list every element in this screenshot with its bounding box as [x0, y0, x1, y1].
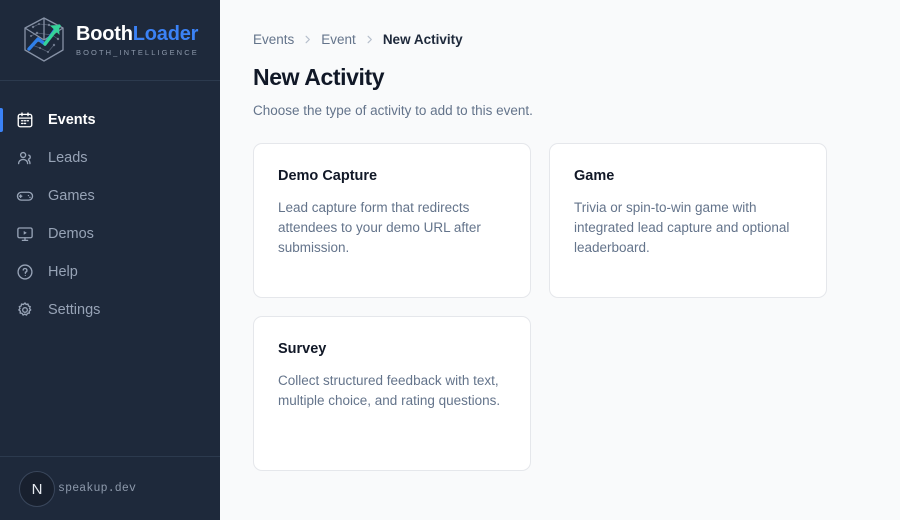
- logo-tagline: BOOTH_INTELLIGENCE: [76, 48, 199, 57]
- activity-card-title: Survey: [278, 341, 506, 358]
- page-subtitle: Choose the type of activity to add to th…: [253, 103, 900, 119]
- activity-type-grid: Demo Capture Lead capture form that redi…: [253, 143, 827, 471]
- sidebar-logo[interactable]: BoothLoader BOOTH_INTELLIGENCE: [0, 0, 220, 81]
- logo-wordmark: BoothLoader BOOTH_INTELLIGENCE: [76, 24, 199, 57]
- sidebar-item-label: Settings: [48, 303, 100, 318]
- activity-card-survey[interactable]: Survey Collect structured feedback with …: [253, 316, 531, 471]
- main-content: Events Event New Activity New Activity C…: [220, 0, 900, 520]
- chevron-right-icon: [364, 34, 375, 45]
- sidebar-user-footer[interactable]: N speakup.dev: [0, 456, 220, 520]
- activity-card-title: Demo Capture: [278, 168, 506, 185]
- sidebar-item-label: Events: [48, 113, 96, 128]
- sidebar-item-label: Demos: [48, 227, 94, 242]
- sidebar-item-label: Games: [48, 189, 95, 204]
- breadcrumb-item-event[interactable]: Event: [321, 32, 356, 47]
- activity-card-title: Game: [574, 168, 802, 185]
- sidebar-item-settings[interactable]: Settings: [0, 291, 220, 329]
- activity-card-game[interactable]: Game Trivia or spin-to-win game with int…: [549, 143, 827, 298]
- gear-icon: [16, 301, 34, 319]
- user-host-label: speakup.dev: [58, 482, 136, 495]
- sidebar-item-demos[interactable]: Demos: [0, 215, 220, 253]
- breadcrumb-item-new-activity: New Activity: [383, 32, 463, 47]
- gamepad-icon: [16, 187, 34, 205]
- monitor-play-icon: [16, 225, 34, 243]
- calendar-icon: [16, 111, 34, 129]
- sidebar: BoothLoader BOOTH_INTELLIGENCE Events: [0, 0, 220, 520]
- logo-word-part2: Loader: [133, 23, 198, 45]
- activity-card-description: Trivia or spin-to-win game with integrat…: [574, 198, 802, 258]
- breadcrumb-item-events[interactable]: Events: [253, 32, 294, 47]
- logo-word-part1: Booth: [76, 23, 133, 45]
- cube-network-arrow-icon: [18, 14, 70, 66]
- users-icon: [16, 149, 34, 167]
- breadcrumb: Events Event New Activity: [253, 30, 900, 48]
- avatar[interactable]: N: [19, 471, 55, 507]
- sidebar-item-label: Leads: [48, 151, 88, 166]
- logo-word: BoothLoader: [76, 24, 199, 45]
- help-circle-icon: [16, 263, 34, 281]
- avatar-initial: N: [32, 481, 43, 498]
- sidebar-item-help[interactable]: Help: [0, 253, 220, 291]
- activity-card-description: Collect structured feedback with text, m…: [278, 371, 506, 411]
- chevron-right-icon: [302, 34, 313, 45]
- sidebar-item-games[interactable]: Games: [0, 177, 220, 215]
- activity-card-demo-capture[interactable]: Demo Capture Lead capture form that redi…: [253, 143, 531, 298]
- app-root: BoothLoader BOOTH_INTELLIGENCE Events: [0, 0, 900, 520]
- sidebar-item-events[interactable]: Events: [0, 101, 220, 139]
- page-title: New Activity: [253, 65, 900, 90]
- sidebar-item-leads[interactable]: Leads: [0, 139, 220, 177]
- sidebar-item-label: Help: [48, 265, 78, 280]
- sidebar-nav: Events Leads Games: [0, 81, 220, 456]
- activity-card-description: Lead capture form that redirects attende…: [278, 198, 506, 258]
